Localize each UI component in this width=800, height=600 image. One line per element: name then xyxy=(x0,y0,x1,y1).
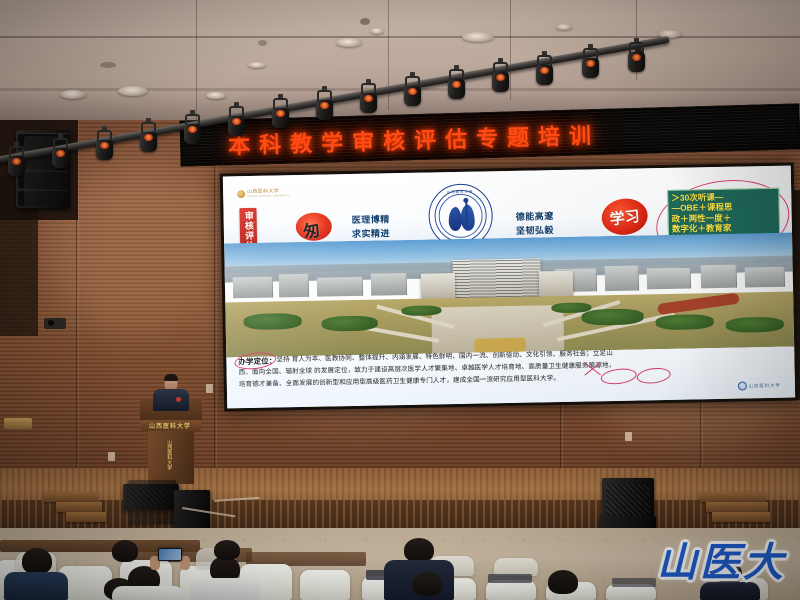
auditorium-photo: 本科教学审核评估专题培训 山西医科大学 SHANXI MEDICAL UNIVE… xyxy=(0,0,800,600)
audience-head xyxy=(214,540,240,560)
audience-head xyxy=(412,572,442,596)
wall-switch xyxy=(625,432,632,441)
university-badge-icon xyxy=(237,190,245,198)
stage-step xyxy=(706,502,768,512)
wall-switch xyxy=(206,384,213,393)
slide-university-logo: 山西医科大学 SHANXI MEDICAL UNIVERSITY xyxy=(237,189,290,198)
audience-shoulders xyxy=(4,572,68,600)
audience-head xyxy=(22,548,52,574)
wall-switch xyxy=(108,452,115,461)
presentation-screen: 山西医科大学 SHANXI MEDICAL UNIVERSITY 审核评估 匆 … xyxy=(220,163,798,412)
audience-head xyxy=(404,538,434,562)
footer-logo-text: 山西医科大学 xyxy=(749,382,781,389)
stage-step xyxy=(44,492,98,502)
phone-screen[interactable] xyxy=(158,548,182,561)
motto-left-line2: 求实精进 xyxy=(352,227,390,241)
stage-light xyxy=(628,42,645,76)
subwoofer-left xyxy=(128,480,176,524)
stage-light xyxy=(360,83,377,117)
xuexi-seal-text: 学习 xyxy=(608,204,640,229)
stage-light xyxy=(448,69,465,103)
wall-camera xyxy=(44,318,66,329)
stage-step xyxy=(56,502,102,512)
stage-light xyxy=(184,114,201,148)
stage-light xyxy=(272,98,289,132)
ceiling-downlight xyxy=(370,28,384,34)
slide: 山西医科大学 SHANXI MEDICAL UNIVERSITY 审核评估 匆 … xyxy=(223,166,795,409)
motto-left: 医理博精 求实精进 xyxy=(352,213,391,241)
ceiling-downlight xyxy=(462,32,494,42)
motto-right-line2: 坚韧弘毅 xyxy=(516,224,554,238)
audience-seat xyxy=(300,570,350,600)
wall-plaque xyxy=(4,418,32,429)
stage-light xyxy=(404,76,421,110)
audience-head xyxy=(112,540,138,562)
stage-light xyxy=(582,48,599,82)
footer-badge-icon xyxy=(737,381,746,390)
ceiling-vent xyxy=(258,40,267,46)
watermark: 山医大 xyxy=(657,530,786,588)
photographer-shoulders xyxy=(112,586,184,600)
audience-seat-back xyxy=(488,574,532,583)
campus-aerial-photo xyxy=(224,233,794,358)
ceiling-downlight xyxy=(248,62,266,68)
motto-right: 德能高邃 坚韧弘毅 xyxy=(516,210,555,238)
stage-light xyxy=(52,138,69,172)
stage-light xyxy=(492,62,509,96)
ceiling-vent xyxy=(360,18,370,25)
main-tower-building xyxy=(452,258,541,301)
audience-seat xyxy=(486,580,536,600)
audience-head xyxy=(548,570,578,594)
podium-front-text: 山西医科大学 xyxy=(149,421,191,430)
ceiling-downlight xyxy=(336,38,362,47)
emblem-name-cn: 山西医科大学 xyxy=(447,188,473,194)
speaker-person xyxy=(153,372,189,412)
stage-step xyxy=(700,492,766,502)
stage-light xyxy=(228,106,245,140)
ceiling-vent xyxy=(100,62,116,68)
motto-left-line1: 医理博精 xyxy=(352,213,390,227)
stage-light xyxy=(536,55,553,89)
slide-footer-logo: 山西医科大学 xyxy=(737,381,781,391)
stage-light xyxy=(316,90,333,124)
audience-seat-back xyxy=(612,578,656,587)
stage-light xyxy=(8,146,25,180)
ceiling-downlight xyxy=(556,24,572,30)
motto-right-line1: 德能高邃 xyxy=(516,210,554,224)
audience-shoulders xyxy=(190,578,260,600)
stage-step xyxy=(66,512,106,522)
stage-step xyxy=(712,512,770,522)
stage-light xyxy=(140,122,157,156)
stage-light xyxy=(96,130,113,164)
podium-body-text: 山西医科大学 xyxy=(166,440,171,470)
